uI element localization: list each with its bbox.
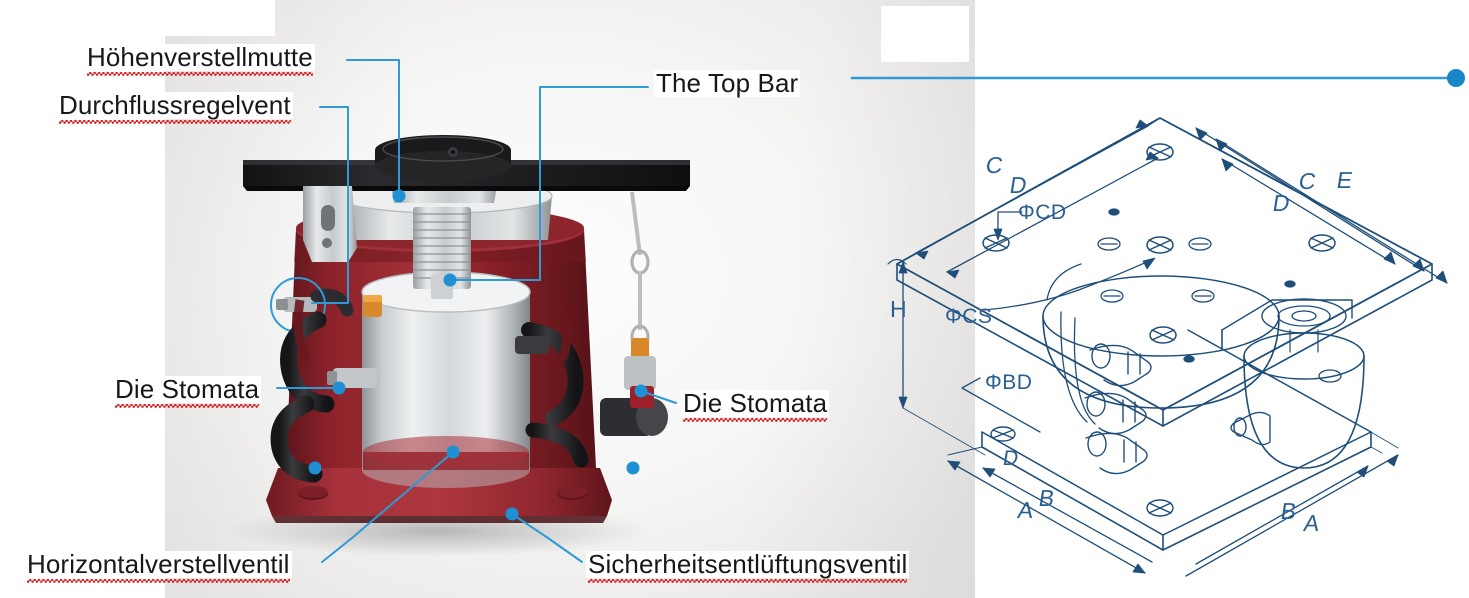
callout-sicherheitsentlueftungsventil[interactable]: Sicherheitsentlüftungsventil (586, 551, 909, 578)
callout-die-stomata-right[interactable]: Die Stomata (681, 390, 829, 417)
dimension-label-phi-cd: ΦCD (1018, 201, 1067, 225)
diagram-stage: Höhenverstellmutte Durchflussregelvent T… (0, 0, 1469, 598)
callout-die-stomata-left[interactable]: Die Stomata (113, 376, 261, 403)
callout-horizontalverstellventil[interactable]: Horizontalverstellventil (25, 551, 292, 578)
callout-durchflussregelvent[interactable]: Durchflussregelvent (57, 92, 293, 119)
callout-label-text: Durchflussregelvent (59, 92, 291, 119)
callout-label-text: Horizontalverstellventil (27, 551, 290, 578)
dimension-label-phi-bd: ΦBD (985, 371, 1032, 395)
callout-label-text: The Top Bar (656, 68, 798, 98)
callout-label-text: Höhenverstellmutte (87, 44, 313, 71)
dimension-label-phi-cs: ΦCS (945, 305, 992, 329)
callout-label-text: Die Stomata (683, 390, 827, 417)
callout-the-top-bar[interactable]: The Top Bar (654, 70, 800, 97)
dimension-label-h-left: H (890, 296, 907, 323)
callout-label-text: Die Stomata (115, 376, 259, 403)
callout-label-text: Sicherheitsentlüftungsventil (588, 551, 907, 578)
top-rule-endpoint-dot (1447, 69, 1465, 87)
callout-hoehenverstellmutter[interactable]: Höhenverstellmutte (85, 44, 315, 71)
